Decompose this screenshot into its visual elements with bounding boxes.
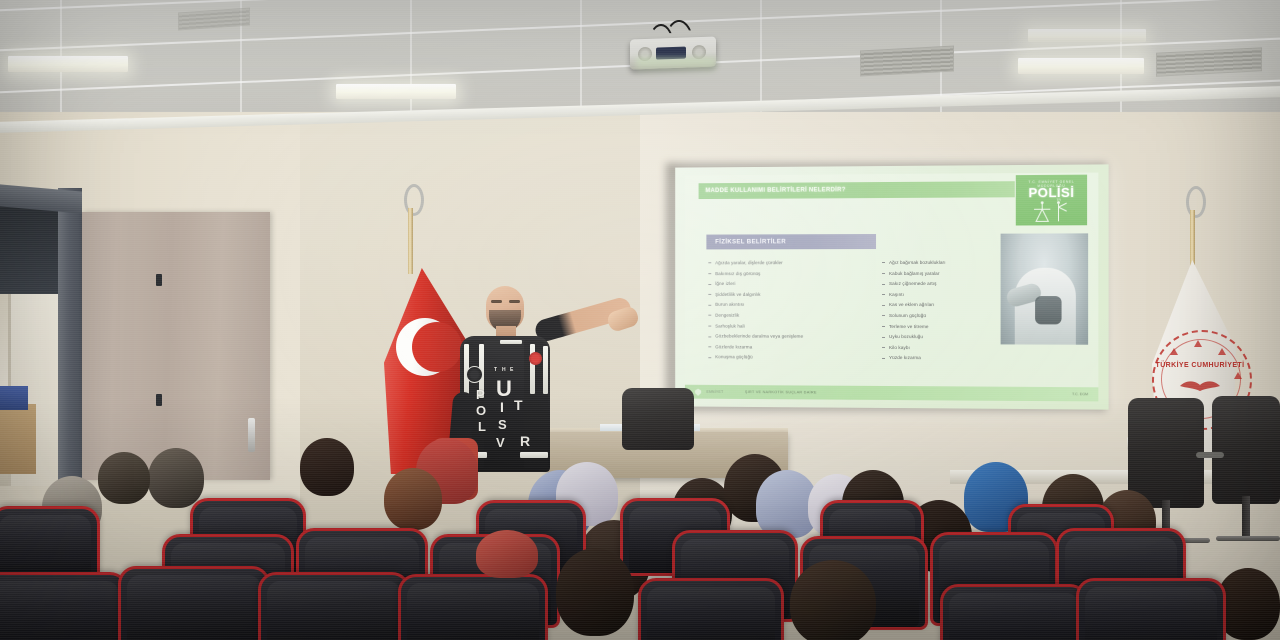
slide-section-header: FİZİKSEL BELİRTİLER (706, 234, 876, 249)
vest-reflective-strip-4 (543, 346, 548, 394)
slide-footer-bar: EMNİYET ŞIRT VE NARKOTİK SUÇLAR DAİRE T.… (685, 385, 1098, 402)
office-chair-right-2-base (1216, 536, 1280, 541)
shirt-letter: H (502, 368, 506, 373)
projector-light-glow (636, 58, 716, 74)
audience-head (556, 548, 634, 636)
list-item: Sarhoşluk hali (708, 321, 886, 332)
vest-reflective-strip-6 (520, 452, 548, 458)
cardboard-box (0, 404, 36, 474)
presenter-brow-left (491, 300, 502, 303)
flagpole-finial-right (1186, 186, 1206, 218)
audience-head (384, 468, 442, 530)
shirt-letter: P (476, 388, 485, 401)
auditorium-seat[interactable] (398, 574, 548, 640)
emblem-bird-icon (1176, 376, 1224, 398)
section-header-label: FİZİKSEL BELİRTİLER (706, 238, 786, 245)
emblem-star-3 (1218, 348, 1226, 355)
ceiling-light-2 (336, 84, 456, 99)
office-chair-right-2[interactable] (1212, 396, 1280, 504)
flagpole-right (1190, 210, 1195, 268)
vest-flag-patch (529, 352, 542, 365)
shirt-letter: T (494, 368, 497, 373)
office-chair-right-1[interactable] (1128, 398, 1204, 508)
photo-figure-detail (1035, 296, 1061, 324)
list-item: Gözbebeklerinde daralma veya genişleme (708, 332, 886, 343)
vest-reflective-shoulder (500, 340, 522, 344)
auditorium-seat[interactable] (258, 572, 410, 640)
auditorium-seat[interactable] (1076, 578, 1226, 640)
slide-title: MADDE KULLANIMI BELİRTİLERİ NELERDİR? (699, 187, 846, 194)
open-door-to-corridor[interactable] (82, 212, 270, 480)
flagpole-finial-left (404, 184, 424, 216)
seat-cushion (647, 587, 775, 640)
flagpole-left (408, 208, 413, 274)
projection-screen: MADDE KULLANIMI BELİRTİLERİ NELERDİR? T.… (675, 164, 1108, 409)
list-item: İğne izleri (708, 279, 886, 290)
shirt-letter: O (476, 404, 486, 417)
shirt-letter: E (510, 368, 513, 373)
seat-cushion (949, 593, 1079, 640)
slide-title-bar: MADDE KULLANIMI BELİRTİLERİ NELERDİR? (699, 181, 1015, 199)
footer-left-text: EMNİYET (702, 390, 723, 394)
emblem-text: TÜRKİYE CUMHURİYETİ (1152, 362, 1248, 369)
auditorium-seat[interactable] (118, 566, 270, 640)
shirt-letter: R (520, 434, 530, 448)
ceiling-light-1 (8, 56, 128, 72)
door-frame-vertical (58, 188, 82, 488)
list-item: Dengesizlik (708, 311, 886, 322)
logo-main-text: POLİSİ (1016, 185, 1087, 201)
audience-head (790, 560, 876, 640)
ceiling-light-3 (1018, 58, 1144, 74)
seat-cushion (0, 581, 119, 640)
list-item: Ağızda yaralar, dişlerde çürükler (708, 258, 886, 269)
list-item: Yüzde kızarma (882, 353, 1033, 364)
seat-cushion (267, 581, 401, 640)
list-item: Konuşma güçlüğü (708, 353, 886, 364)
corridor-shadow (0, 204, 60, 294)
list-item: Şiddetlilik ve dalgınlık (708, 290, 886, 301)
list-item: Bakımsız dış görünüş (708, 269, 886, 280)
police-logo-box: T.C. EMNİYET GENEL MÜDÜRLÜĞÜ POLİSİ TR (1016, 175, 1087, 226)
seat-cushion (1085, 587, 1217, 640)
audience-head (300, 438, 354, 496)
shirt-letter: T (514, 398, 523, 412)
audience-head (148, 448, 204, 508)
seat-cushion (127, 575, 261, 640)
auditorium-seat[interactable] (638, 578, 784, 640)
office-chair-right-armrest (1196, 452, 1224, 458)
door-hinge-upper (156, 274, 162, 286)
list-item: Gözlerde kızarma (708, 342, 886, 353)
audience-head (98, 452, 150, 504)
emblem-star-2 (1194, 340, 1202, 347)
shirt-letter: S (498, 418, 507, 431)
slide-illustration-photo (1001, 233, 1089, 344)
blue-box (0, 386, 28, 410)
child-figure-icon (1030, 201, 1075, 223)
auditorium-seat[interactable] (0, 572, 128, 640)
presenter-brow-right (509, 300, 520, 303)
audience-headscarf (476, 530, 538, 578)
emblem-star-1 (1170, 348, 1178, 355)
footer-emblem-icon (694, 387, 703, 396)
office-chair-right-2-post (1242, 496, 1250, 538)
ceiling-air-vent-1 (860, 46, 954, 77)
door-handle[interactable] (248, 418, 255, 452)
office-chair-center[interactable] (622, 388, 694, 450)
shirt-letter: I (500, 400, 504, 414)
bullet-list-left: Ağızda yaralar, dişlerde çürükler Bakıms… (708, 258, 886, 364)
footer-center-text: ŞIRT VE NARKOTİK SUÇLAR DAİRE (723, 390, 816, 395)
presentation-slide: MADDE KULLANIMI BELİRTİLERİ NELERDİR? T.… (685, 173, 1098, 402)
shirt-letter: V (496, 436, 505, 449)
shirt-letter: U (496, 378, 512, 400)
ceiling-light-4 (1028, 29, 1146, 42)
door-hinge-lower (156, 394, 162, 406)
list-item: Burun akıntısı (708, 300, 886, 311)
auditorium-seat[interactable] (940, 584, 1088, 640)
shirt-letter: L (478, 420, 486, 433)
footer-right-text: T.C. EGM (1072, 392, 1088, 396)
emblem-star-4 (1234, 372, 1242, 379)
vest-badge-icon (466, 366, 483, 383)
slide-bullets-left: Ağızda yaralar, dişlerde çürükler Bakıms… (708, 258, 886, 364)
conference-room-scene: MADDE KULLANIMI BELİRTİLERİ NELERDİR? T.… (0, 0, 1280, 640)
seat-cushion (407, 583, 539, 640)
